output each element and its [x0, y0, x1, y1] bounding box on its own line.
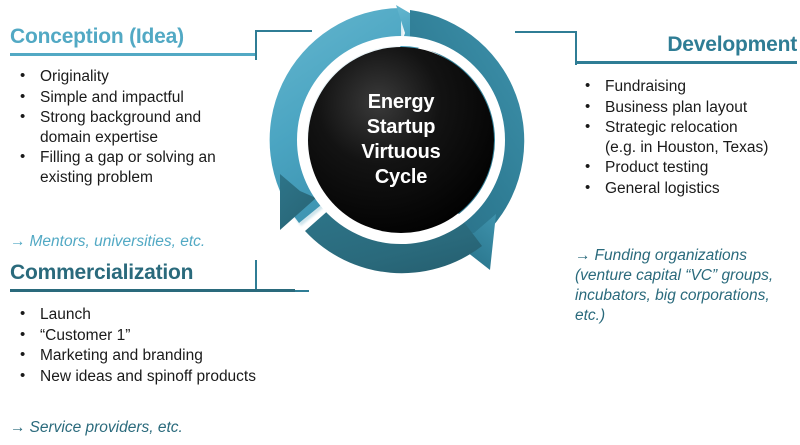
panel-conception-rule: [10, 53, 255, 56]
bullet-text: “Customer 1”: [40, 327, 130, 344]
panel-conception: Conception (Idea) Originality Simple and…: [10, 26, 260, 188]
bullet-text: Strategic relocation: [605, 119, 738, 136]
panel-commercialization-title: Commercialization: [10, 262, 295, 283]
bullet-text: Marketing and branding: [40, 347, 203, 364]
list-item: New ideas and spinoff products: [10, 367, 295, 387]
panel-development-rule: [575, 61, 797, 64]
bullet-text: Fundraising: [605, 78, 686, 95]
list-item: “Customer 1”: [10, 326, 295, 346]
list-item: Business plan layout: [575, 98, 797, 118]
virtuous-cycle-graphic: Energy Startup Virtuous Cycle: [258, 2, 544, 278]
list-item: Product testing: [575, 158, 797, 178]
list-item: Filling a gap or solving an existing pro…: [10, 148, 260, 187]
note-text: Mentors, universities, etc.: [30, 233, 206, 250]
list-item: Strategic relocation (e.g. in Houston, T…: [575, 118, 797, 157]
arrow-right-icon: →: [10, 233, 26, 250]
bullet-text: Simple and impactful: [40, 89, 184, 106]
bullet-text: Originality: [40, 68, 109, 85]
arrow-right-icon: →: [575, 247, 591, 264]
list-item: General logistics: [575, 179, 797, 199]
panel-commercialization-note: →Service providers, etc.: [10, 418, 183, 438]
diagram-canvas: Energy Startup Virtuous Cycle Conception…: [0, 0, 800, 445]
panel-development-note: →Funding organizations (venture capital …: [575, 246, 800, 326]
panel-commercialization: Commercialization Launch “Customer 1” Ma…: [10, 262, 295, 387]
list-item: Marketing and branding: [10, 346, 295, 366]
list-item: Fundraising: [575, 77, 797, 97]
bullet-text-cont: existing problem: [40, 168, 260, 188]
bullet-text: Launch: [40, 306, 91, 323]
bullet-text: General logistics: [605, 180, 720, 197]
panel-development-title: Development: [575, 34, 797, 55]
note-text: Service providers, etc.: [30, 419, 183, 436]
list-item: Simple and impactful: [10, 88, 260, 108]
list-item: Launch: [10, 305, 295, 325]
list-item: Originality: [10, 67, 260, 87]
panel-conception-title: Conception (Idea): [10, 26, 260, 47]
note-text: Funding organizations (venture capital “…: [575, 247, 773, 324]
panel-development: Development Fundraising Business plan la…: [575, 34, 797, 199]
bullet-text: New ideas and spinoff products: [40, 368, 256, 385]
panel-conception-bullets: Originality Simple and impactful Strong …: [10, 67, 260, 187]
bullet-text: Business plan layout: [605, 99, 747, 116]
panel-commercialization-rule: [10, 289, 295, 292]
panel-commercialization-bullets: Launch “Customer 1” Marketing and brandi…: [10, 305, 295, 386]
bullet-text: Filling a gap or solving an: [40, 149, 216, 166]
panel-conception-note: →Mentors, universities, etc.: [10, 232, 205, 252]
bullet-text-cont: (e.g. in Houston, Texas): [605, 138, 797, 158]
bullet-text: Product testing: [605, 159, 708, 176]
panel-development-bullets: Fundraising Business plan layout Strateg…: [575, 77, 797, 198]
bullet-text: Strong background and: [40, 109, 201, 126]
bullet-text-cont: domain expertise: [40, 128, 260, 148]
arrow-right-icon: →: [10, 419, 26, 436]
list-item: Strong background and domain expertise: [10, 108, 260, 147]
